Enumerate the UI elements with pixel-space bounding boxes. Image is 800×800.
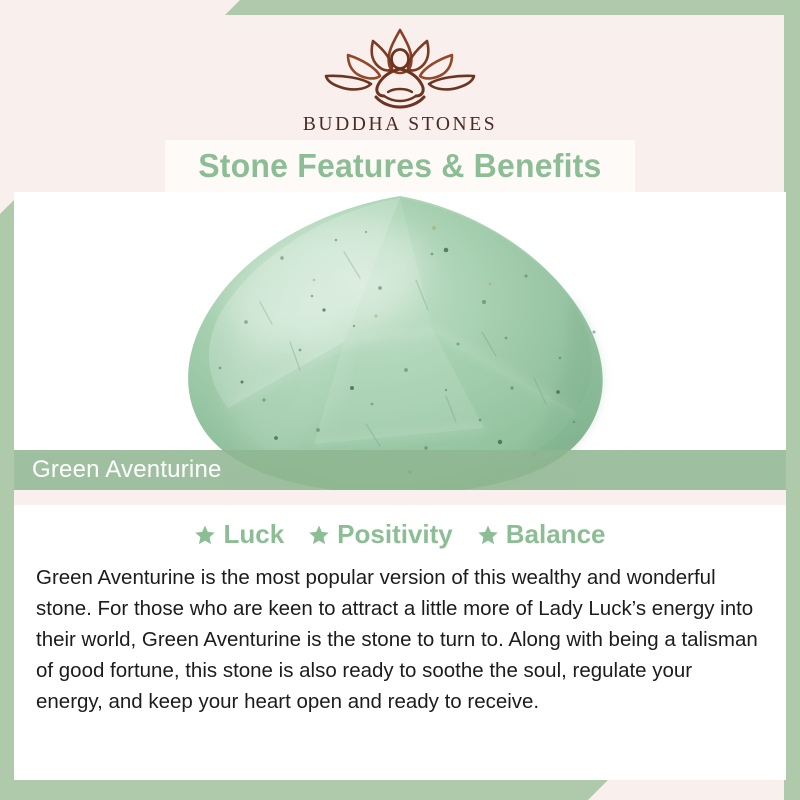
- keyword-label: Balance: [506, 519, 606, 550]
- green-aventurine-stone-image: [14, 192, 786, 490]
- keyword-item: Positivity: [308, 519, 453, 550]
- keyword-item: Balance: [477, 519, 606, 550]
- brand-logo: BUDDHA STONES: [0, 24, 800, 136]
- frame-accent-bottom: [0, 780, 608, 800]
- frame-accent-left: [0, 200, 14, 800]
- keyword-item: Luck: [194, 519, 284, 550]
- stone-photo: [14, 192, 786, 490]
- content-section: Luck Positivity Balance Green: [14, 505, 786, 780]
- star-icon: [477, 524, 499, 546]
- keyword-label: Luck: [223, 519, 284, 550]
- header: BUDDHA STONES Stone Features & Benefits: [0, 0, 800, 200]
- lotus-meditation-figure-icon: [316, 24, 484, 110]
- stone-name: Green Aventurine: [32, 456, 222, 484]
- title-band: Stone Features & Benefits: [165, 140, 635, 192]
- description-paragraph: Green Aventurine is the most popular ver…: [36, 562, 760, 717]
- star-icon: [194, 524, 216, 546]
- keyword-list: Luck Positivity Balance: [14, 519, 786, 550]
- divider-strip: [14, 490, 786, 505]
- poster-canvas: BUDDHA STONES Stone Features & Benefits: [0, 0, 800, 800]
- page-title: Stone Features & Benefits: [198, 147, 601, 185]
- star-icon: [308, 524, 330, 546]
- brand-name: BUDDHA STONES: [303, 114, 497, 136]
- stone-name-band: Green Aventurine: [14, 450, 786, 490]
- keyword-label: Positivity: [337, 519, 453, 550]
